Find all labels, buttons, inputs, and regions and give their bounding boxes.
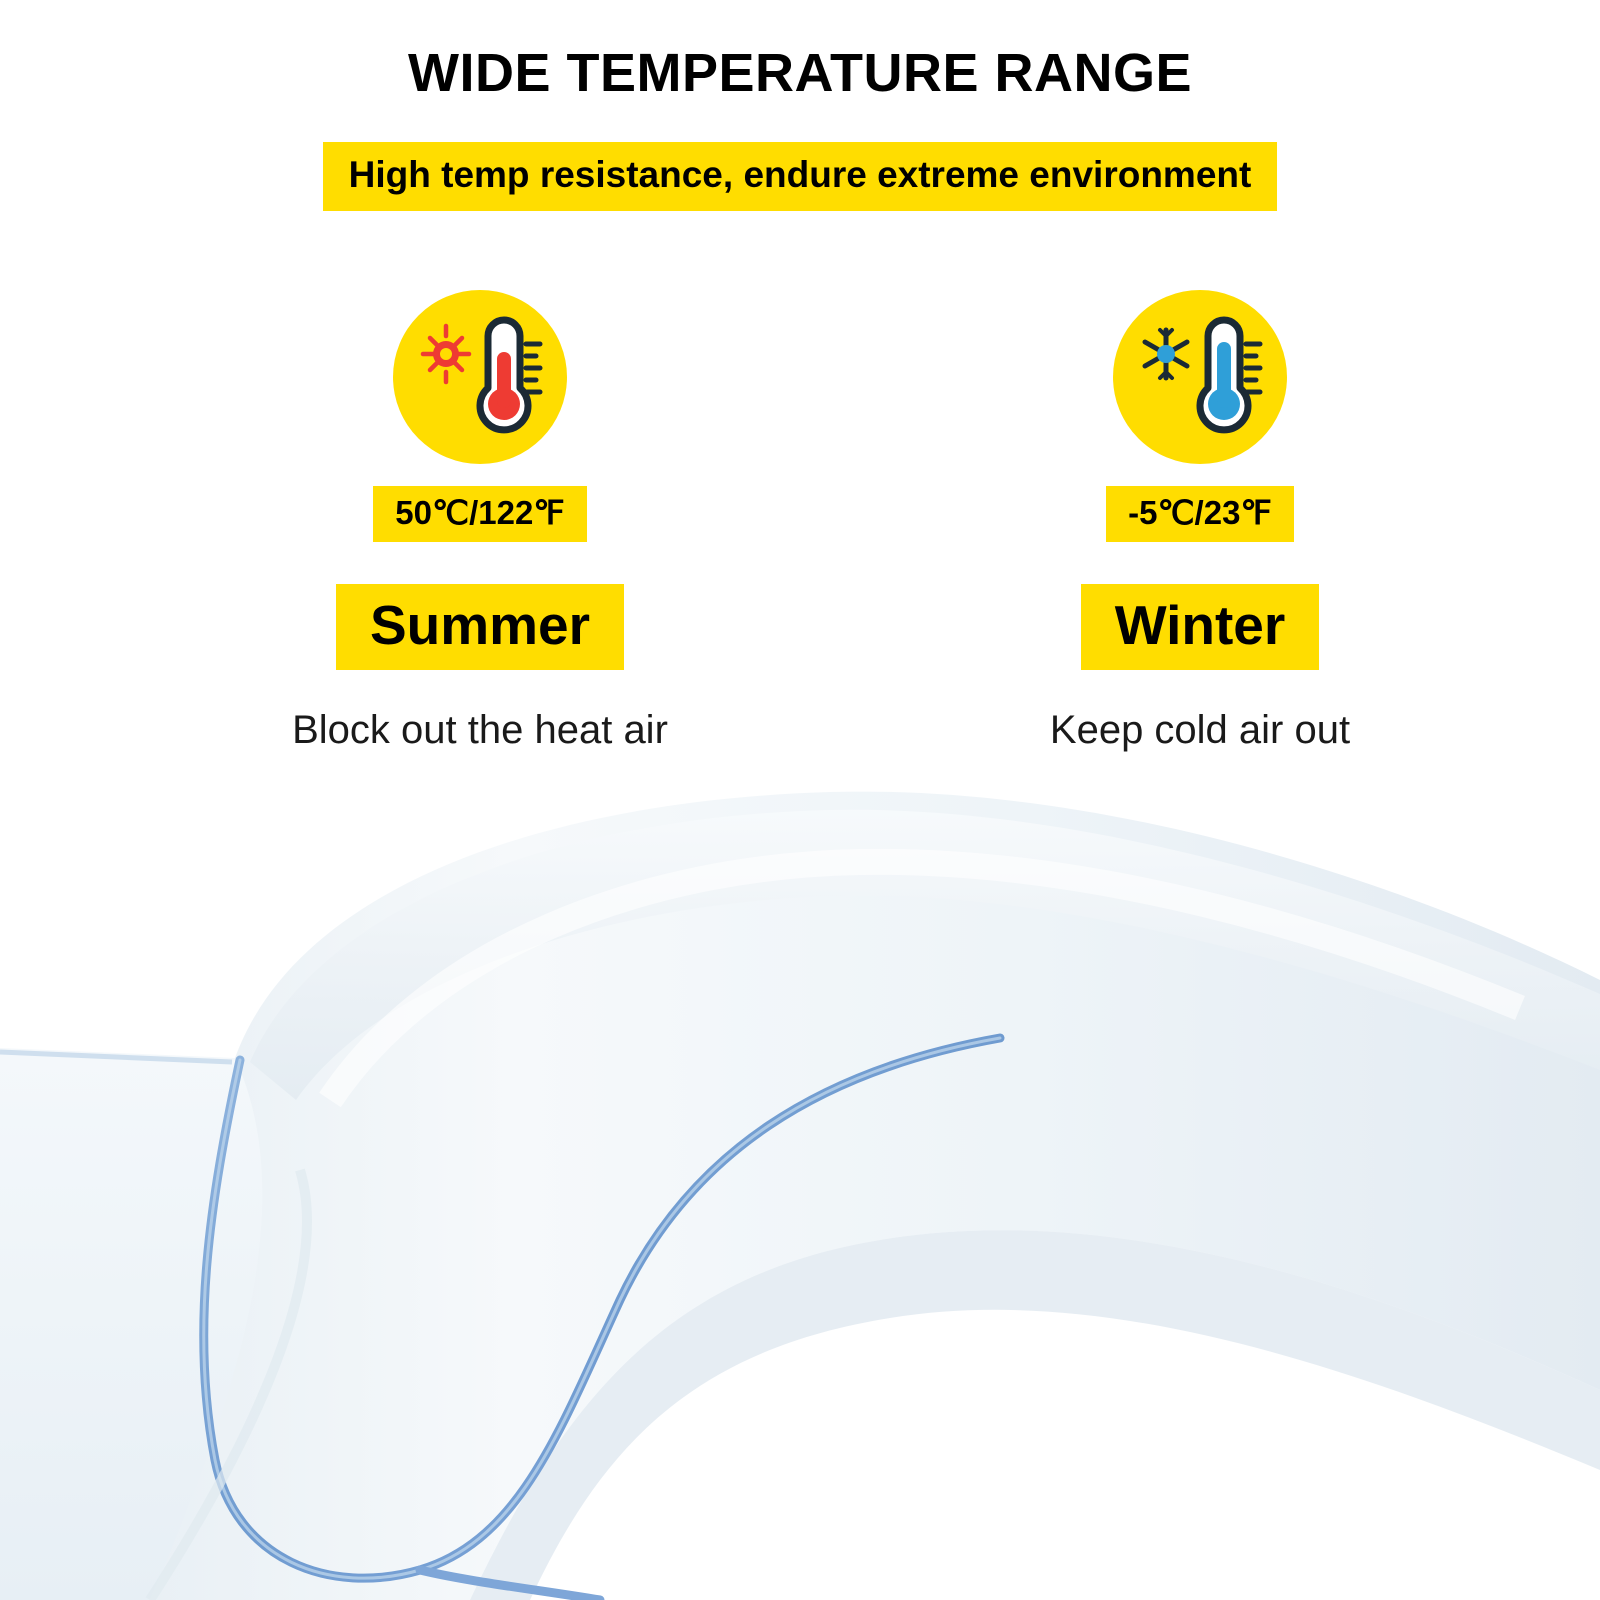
temperature-badge-winter: -5℃/23℉ (940, 486, 1460, 542)
hot-thermometer-icon (393, 290, 567, 464)
temperature-value-summer: 50℃/122℉ (373, 486, 586, 542)
season-label-winter: Winter (1081, 584, 1320, 670)
temperature-badge-summer: 50℃/122℉ (220, 486, 740, 542)
subtitle-text: High temp resistance, endure extreme env… (323, 142, 1278, 211)
feature-column-summer: 50℃/122℉ Summer Block out the heat air (220, 290, 740, 754)
caption-summer: Block out the heat air (220, 706, 740, 754)
temperature-value-winter: -5℃/23℉ (1106, 486, 1294, 542)
feature-column-winter: -5℃/23℉ Winter Keep cold air out (940, 290, 1460, 754)
season-badge-summer: Summer (220, 584, 740, 672)
product-photo (0, 770, 1600, 1600)
caption-winter: Keep cold air out (940, 706, 1460, 754)
page-title: WIDE TEMPERATURE RANGE (0, 44, 1600, 103)
cold-thermometer-icon (1113, 290, 1287, 464)
season-label-summer: Summer (336, 584, 624, 670)
subtitle-banner: High temp resistance, endure extreme env… (0, 142, 1600, 211)
season-badge-winter: Winter (940, 584, 1460, 672)
